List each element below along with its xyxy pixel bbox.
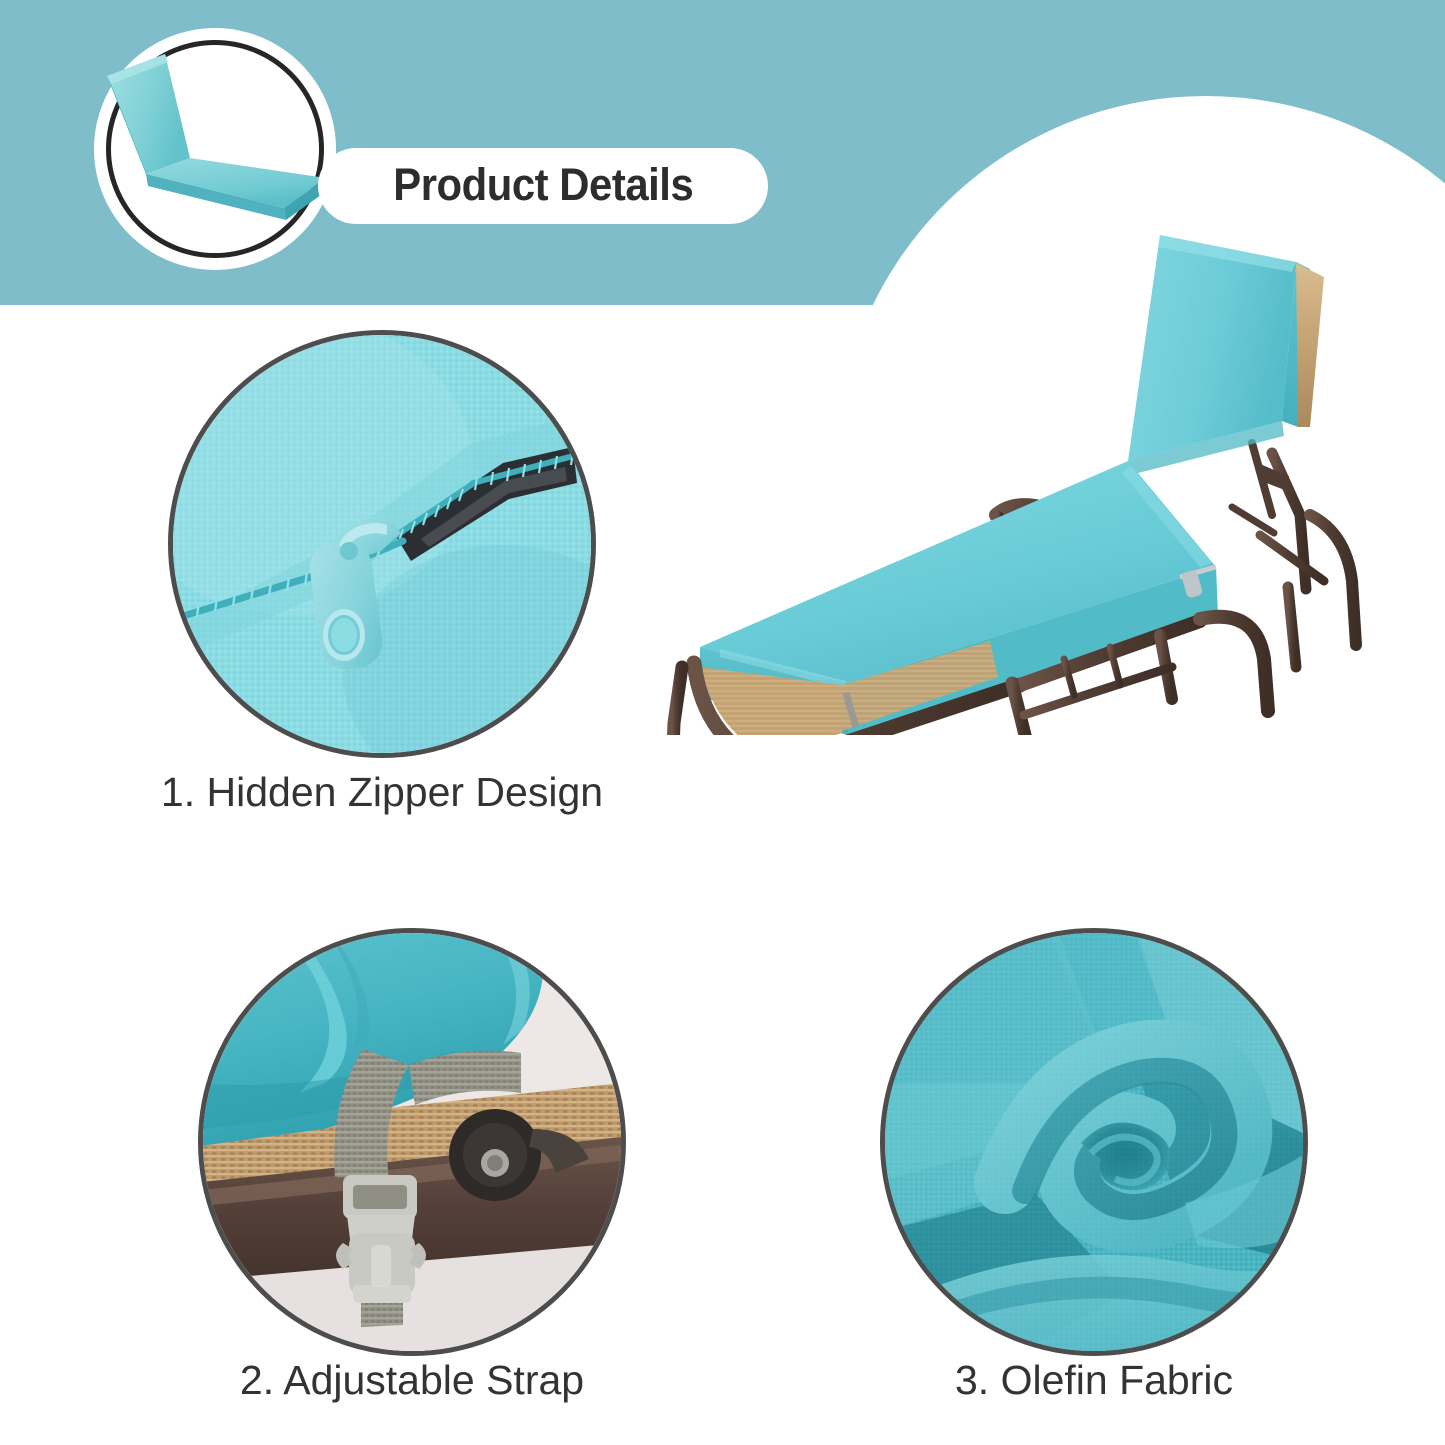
strap-buckle-closeup-image [203, 933, 621, 1351]
product-details-infographic: Product Details [0, 0, 1445, 1445]
olefin-fabric-closeup-image [885, 933, 1303, 1351]
hero-product-image [660, 215, 1380, 735]
detail-circle-zipper [168, 330, 596, 758]
detail-caption-2: 2. Adjustable Strap [138, 1358, 686, 1403]
backrest-sling [1296, 263, 1324, 427]
backrest-cushion [1128, 235, 1310, 475]
detail-circle-fabric [880, 928, 1308, 1356]
detail-circle-strap [198, 928, 626, 1356]
folded-cushion-icon [80, 18, 348, 280]
page-title-pill: Product Details [318, 148, 768, 224]
page-title: Product Details [393, 162, 693, 210]
detail-caption-3: 3. Olefin Fabric [820, 1358, 1368, 1403]
detail-caption-1: 1. Hidden Zipper Design [108, 770, 656, 815]
recline-mechanism [1232, 443, 1290, 533]
zipper-closeup-image [173, 335, 591, 753]
badge-cushion-seat [146, 158, 328, 220]
header-badge [80, 18, 348, 280]
